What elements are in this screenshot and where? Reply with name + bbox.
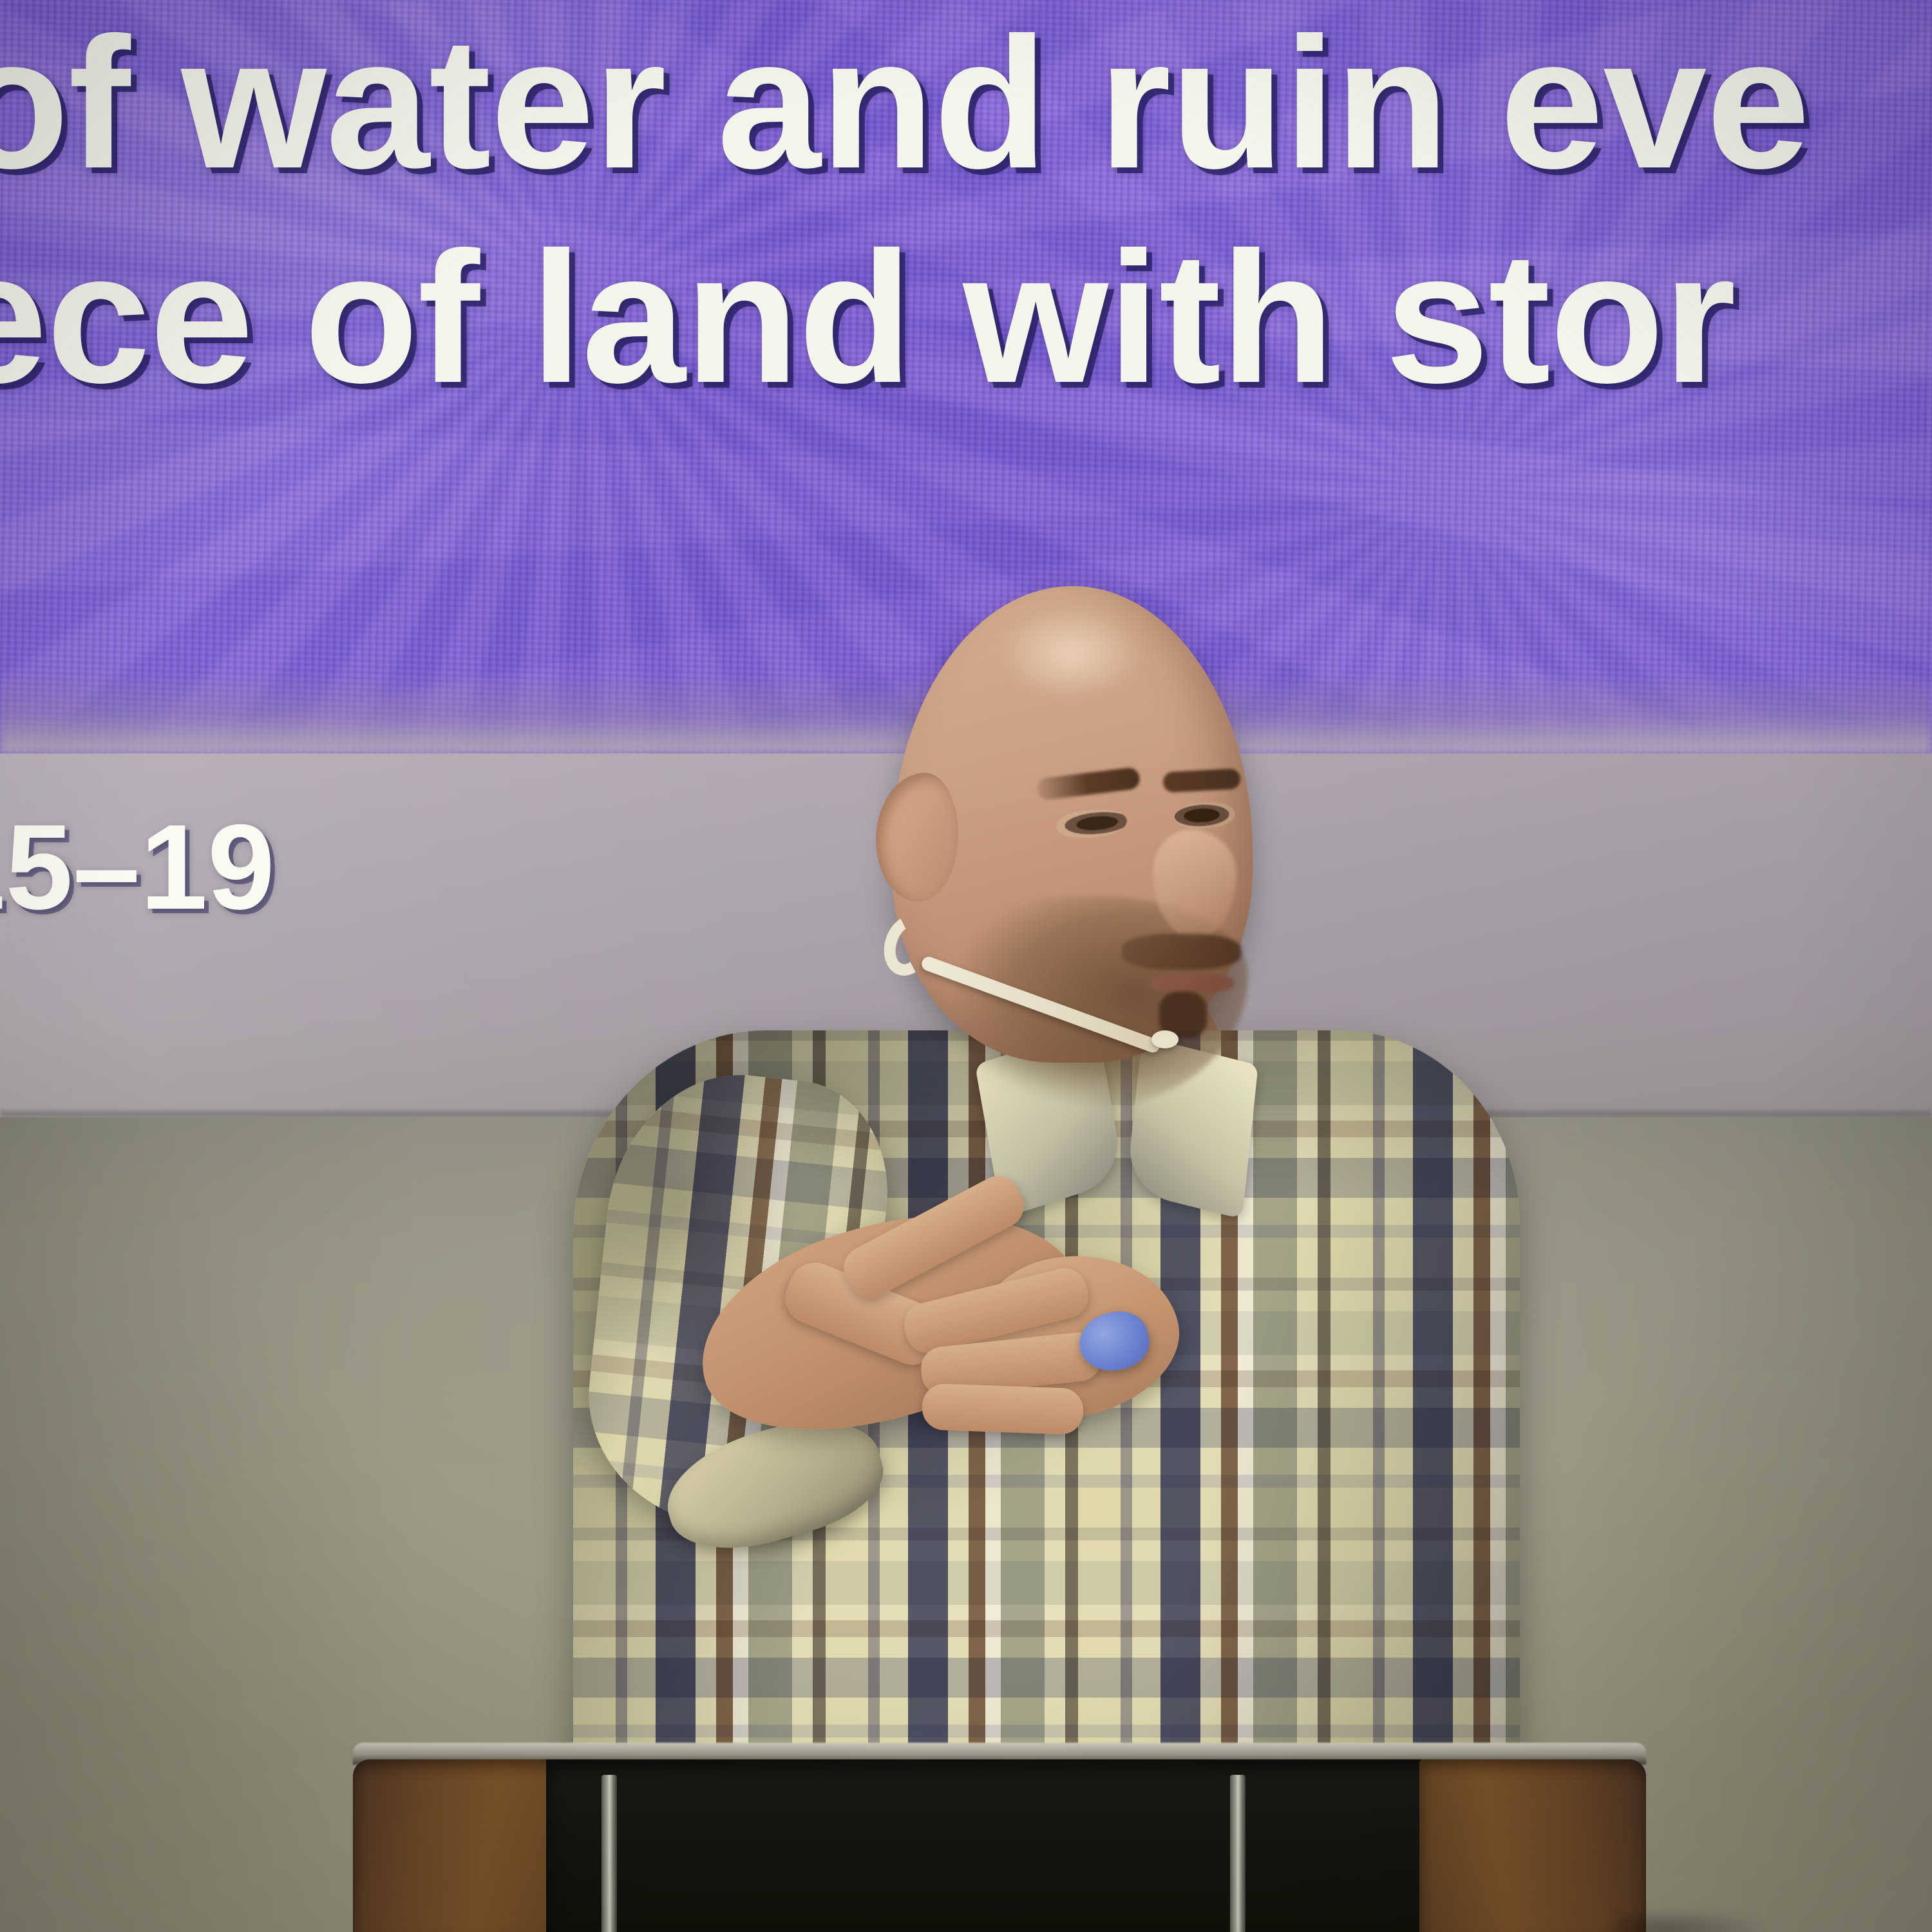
little-finger bbox=[922, 1383, 1084, 1435]
speaker bbox=[0, 0, 1932, 1932]
lips bbox=[1150, 974, 1234, 993]
podium-wood-panel-right bbox=[1419, 1759, 1646, 1932]
podium-rail-right bbox=[1230, 1775, 1245, 1932]
podium-cast-shadow bbox=[1615, 1910, 1770, 1932]
scalp-highlight bbox=[997, 605, 1145, 702]
mustache bbox=[1122, 934, 1241, 970]
podium bbox=[353, 1749, 1646, 1932]
eyebrow-right bbox=[1162, 768, 1241, 793]
presentation-photo: of water and ruin eve ece of land with s… bbox=[0, 0, 1932, 1932]
ear bbox=[876, 773, 958, 902]
podium-rail-left bbox=[601, 1775, 617, 1932]
podium-center-recess bbox=[546, 1759, 1455, 1932]
podium-wood-panel-left bbox=[353, 1759, 565, 1932]
microphone-capsule-icon bbox=[1151, 1030, 1179, 1048]
